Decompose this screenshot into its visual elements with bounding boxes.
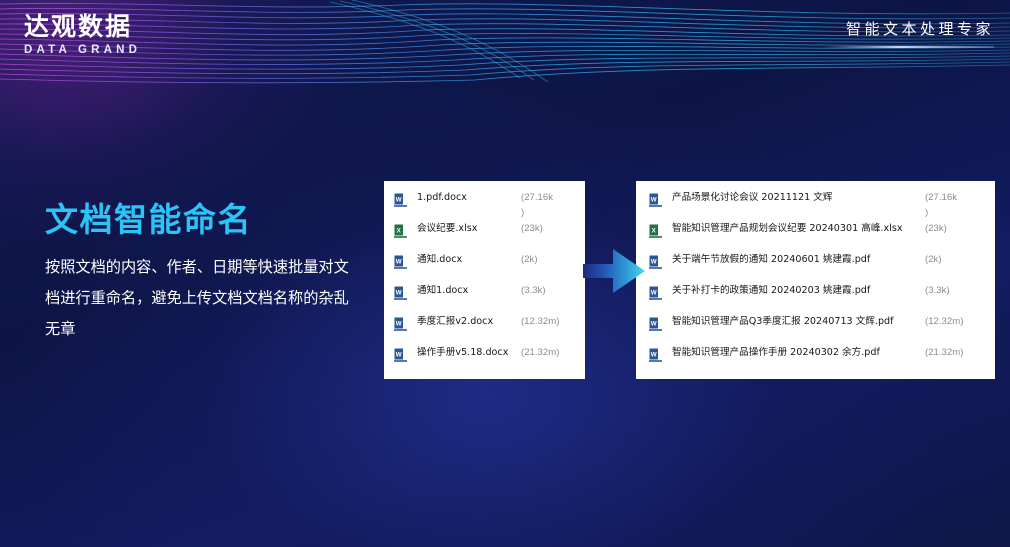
svg-text:W: W (396, 352, 402, 359)
file-size: (3.3k) (521, 283, 579, 298)
word-file-icon: W (649, 193, 662, 208)
file-size: (21.32m) (521, 345, 579, 360)
word-file-icon: W (394, 286, 407, 301)
file-name: 通知1.docx (417, 283, 521, 298)
svg-text:W: W (651, 352, 657, 359)
file-row[interactable]: W关于端午节放假的通知 20240601 姚建霞.pdf(2k) (636, 252, 995, 283)
svg-text:W: W (396, 197, 402, 204)
file-row[interactable]: W通知.docx(2k) (384, 252, 585, 283)
file-size: (2k) (521, 252, 579, 267)
file-row[interactable]: X会议纪要.xlsx(23k) (384, 221, 585, 252)
svg-text:W: W (396, 259, 402, 266)
file-name: 智能知识管理产品操作手册 20240302 余方.pdf (672, 345, 925, 360)
tagline-text: 智能文本处理专家 (822, 18, 994, 39)
file-size: (27.16k ) (521, 190, 579, 220)
word-file-icon: W (649, 286, 662, 301)
file-size: (23k) (521, 221, 579, 236)
word-file-icon: W (649, 255, 662, 270)
file-name: 关于端午节放假的通知 20240601 姚建霞.pdf (672, 252, 925, 267)
tagline-underline (822, 46, 994, 48)
svg-text:W: W (396, 321, 402, 328)
tagline-block: 智能文本处理专家 (822, 18, 994, 48)
word-file-icon: W (394, 348, 407, 363)
brand-logo: 达观数据 DATA GRAND (24, 13, 141, 56)
svg-text:W: W (651, 321, 657, 328)
word-file-icon: W (649, 317, 662, 332)
file-row[interactable]: W操作手册v5.18.docx(21.32m) (384, 345, 585, 376)
file-size: (12.32m) (521, 314, 579, 329)
word-file-icon: W (649, 348, 662, 363)
file-name: 智能知识管理产品Q3季度汇报 20240713 文辉.pdf (672, 314, 925, 329)
file-size: (27.16k ) (925, 190, 987, 220)
slide-canvas: 达观数据 DATA GRAND 智能文本处理专家 文档智能命名 按照文档的内容、… (0, 0, 1010, 547)
file-size: (21.32m) (925, 345, 987, 360)
file-row[interactable]: W产品场景化讨论会议 20211121 文辉(27.16k ) (636, 190, 995, 221)
word-file-icon: W (394, 317, 407, 332)
file-name: 季度汇报v2.docx (417, 314, 521, 329)
file-row[interactable]: W智能知识管理产品操作手册 20240302 余方.pdf(21.32m) (636, 345, 995, 376)
file-row[interactable]: W季度汇报v2.docx(12.32m) (384, 314, 585, 345)
svg-text:W: W (396, 290, 402, 297)
svg-text:W: W (651, 197, 657, 204)
header-band: 达观数据 DATA GRAND 智能文本处理专家 (0, 0, 1010, 92)
excel-file-icon: X (394, 224, 407, 239)
svg-text:W: W (651, 290, 657, 297)
file-row[interactable]: W1.pdf.docx(27.16k ) (384, 190, 585, 221)
file-size: (12.32m) (925, 314, 987, 329)
svg-text:W: W (651, 259, 657, 266)
arrow-right-icon (583, 246, 645, 296)
file-row[interactable]: W关于补打卡的政策通知 20240203 姚建霞.pdf(3.3k) (636, 283, 995, 314)
file-list-before: W1.pdf.docx(27.16k )X会议纪要.xlsx(23k)W通知.d… (384, 181, 585, 379)
file-row[interactable]: W通知1.docx(3.3k) (384, 283, 585, 314)
file-name: 通知.docx (417, 252, 521, 267)
brand-name-cn: 达观数据 (24, 13, 141, 40)
brand-name-en: DATA GRAND (24, 44, 141, 56)
file-name: 智能知识管理产品规划会议纪要 20240301 高峰.xlsx (672, 221, 925, 236)
file-list-after: W产品场景化讨论会议 20211121 文辉(27.16k )X智能知识管理产品… (636, 181, 995, 379)
file-size: (23k) (925, 221, 987, 236)
word-file-icon: W (394, 255, 407, 270)
page-description: 按照文档的内容、作者、日期等快速批量对文档进行重命名，避免上传文档文档名称的杂乱… (45, 252, 355, 345)
page-title: 文档智能命名 (45, 193, 252, 241)
file-name: 会议纪要.xlsx (417, 221, 521, 236)
file-size: (3.3k) (925, 283, 987, 298)
file-name: 产品场景化讨论会议 20211121 文辉 (672, 190, 925, 205)
file-name: 操作手册v5.18.docx (417, 345, 521, 360)
file-name: 1.pdf.docx (417, 190, 521, 205)
excel-file-icon: X (649, 224, 662, 239)
file-row[interactable]: X智能知识管理产品规划会议纪要 20240301 高峰.xlsx(23k) (636, 221, 995, 252)
file-size: (2k) (925, 252, 987, 267)
word-file-icon: W (394, 193, 407, 208)
file-row[interactable]: W智能知识管理产品Q3季度汇报 20240713 文辉.pdf(12.32m) (636, 314, 995, 345)
file-name: 关于补打卡的政策通知 20240203 姚建霞.pdf (672, 283, 925, 298)
